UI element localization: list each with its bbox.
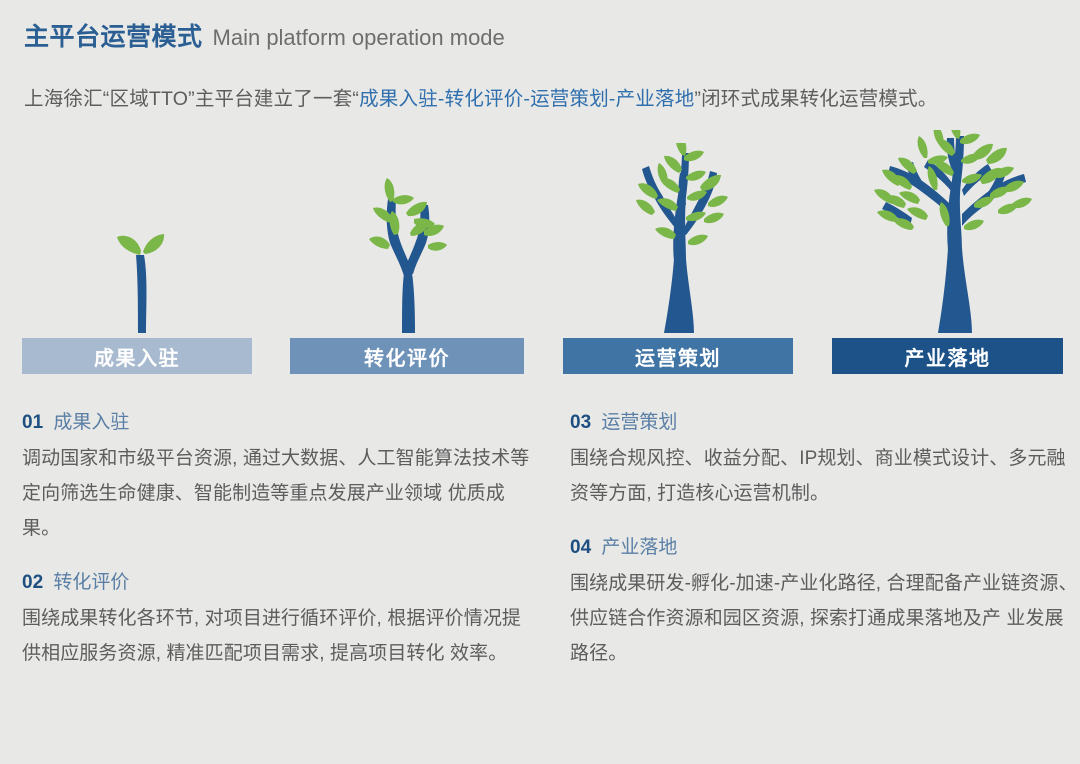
intro-part1: 上海徐汇“区域TTO”主平台建立了一套“	[24, 88, 359, 110]
detail-block-04: 04 产业落地 围绕成果研发-孵化-加速-产业化路径, 合理配备产业链资源、供应…	[570, 533, 1078, 671]
detail-block-04-name: 产业落地	[601, 537, 677, 558]
infographic-page: 主平台运营模式 Main platform operation mode 上海徐…	[0, 0, 1080, 764]
detail-block-03-heading: 03 运营策划	[570, 408, 1078, 438]
sapling-icon	[358, 177, 463, 335]
detail-block-02-heading: 02 转化评价	[22, 568, 530, 598]
detail-block-04-body: 围绕成果研发-孵化-加速-产业化路径, 合理配备产业链资源、供应链合作资源和园区…	[570, 566, 1078, 671]
detail-block-03-body: 围绕合规风控、收益分配、IP规划、商业模式设计、多元融资等方面, 打造核心运营机…	[570, 441, 1078, 511]
detail-block-04-heading: 04 产业落地	[570, 533, 1078, 563]
stage-bar-4-label: 产业落地	[905, 342, 991, 371]
stage-bar-1[interactable]: 成果入驻	[22, 338, 252, 374]
sprout-icon	[96, 215, 186, 335]
detail-block-02-body: 围绕成果转化各环节, 对项目进行循环评价, 根据评价情况提供相应服务资源, 精准…	[22, 601, 530, 671]
detail-block-01-name: 成果入驻	[53, 412, 129, 433]
stage-bar-row: 成果入驻 转化评价 运营策划 产业落地	[0, 338, 1080, 374]
stage-bar-2-label: 转化评价	[364, 342, 450, 371]
detail-block-01: 01 成果入驻 调动国家和市级平台资源, 通过大数据、人工智能算法技术等定向筛选…	[22, 408, 530, 546]
detail-block-02: 02 转化评价 围绕成果转化各环节, 对项目进行循环评价, 根据评价情况提供相应…	[22, 568, 530, 671]
detail-block-04-number: 04	[570, 537, 591, 558]
stage-bar-1-label: 成果入驻	[94, 342, 180, 371]
detail-block-02-name: 转化评价	[53, 572, 129, 593]
detail-block-01-body: 调动国家和市级平台资源, 通过大数据、人工智能算法技术等定向筛选生命健康、智能制…	[22, 441, 530, 546]
stage-bar-2[interactable]: 转化评价	[290, 338, 524, 374]
detail-block-03: 03 运营策划 围绕合规风控、收益分配、IP规划、商业模式设计、多元融资等方面,…	[570, 408, 1078, 511]
page-title: 主平台运营模式 Main platform operation mode	[24, 17, 505, 53]
detail-column-left: 01 成果入驻 调动国家和市级平台资源, 通过大数据、人工智能算法技术等定向筛选…	[22, 408, 530, 693]
stage-bar-4[interactable]: 产业落地	[832, 338, 1063, 374]
page-title-cn: 主平台运营模式	[24, 17, 203, 53]
mature-tree-icon	[868, 130, 1036, 335]
intro-highlight: 成果入驻-转化评价-运营策划-产业落地	[359, 88, 694, 110]
stage-bar-3[interactable]: 运营策划	[563, 338, 793, 374]
page-title-en: Main platform operation mode	[213, 25, 505, 51]
detail-column-right: 03 运营策划 围绕合规风控、收益分配、IP规划、商业模式设计、多元融资等方面,…	[570, 408, 1078, 693]
detail-block-02-number: 02	[22, 572, 43, 593]
tree-growth-illustration	[0, 130, 1080, 335]
intro-paragraph: 上海徐汇“区域TTO”主平台建立了一套“成果入驻-转化评价-运营策划-产业落地”…	[24, 82, 1054, 116]
detail-block-01-heading: 01 成果入驻	[22, 408, 530, 438]
stage-bar-3-label: 运营策划	[635, 342, 721, 371]
detail-block-03-name: 运营策划	[601, 412, 677, 433]
detail-block-03-number: 03	[570, 412, 591, 433]
young-tree-icon	[616, 143, 746, 335]
detail-block-01-number: 01	[22, 412, 43, 433]
intro-part2: ”闭环式成果转化运营模式。	[694, 88, 937, 110]
